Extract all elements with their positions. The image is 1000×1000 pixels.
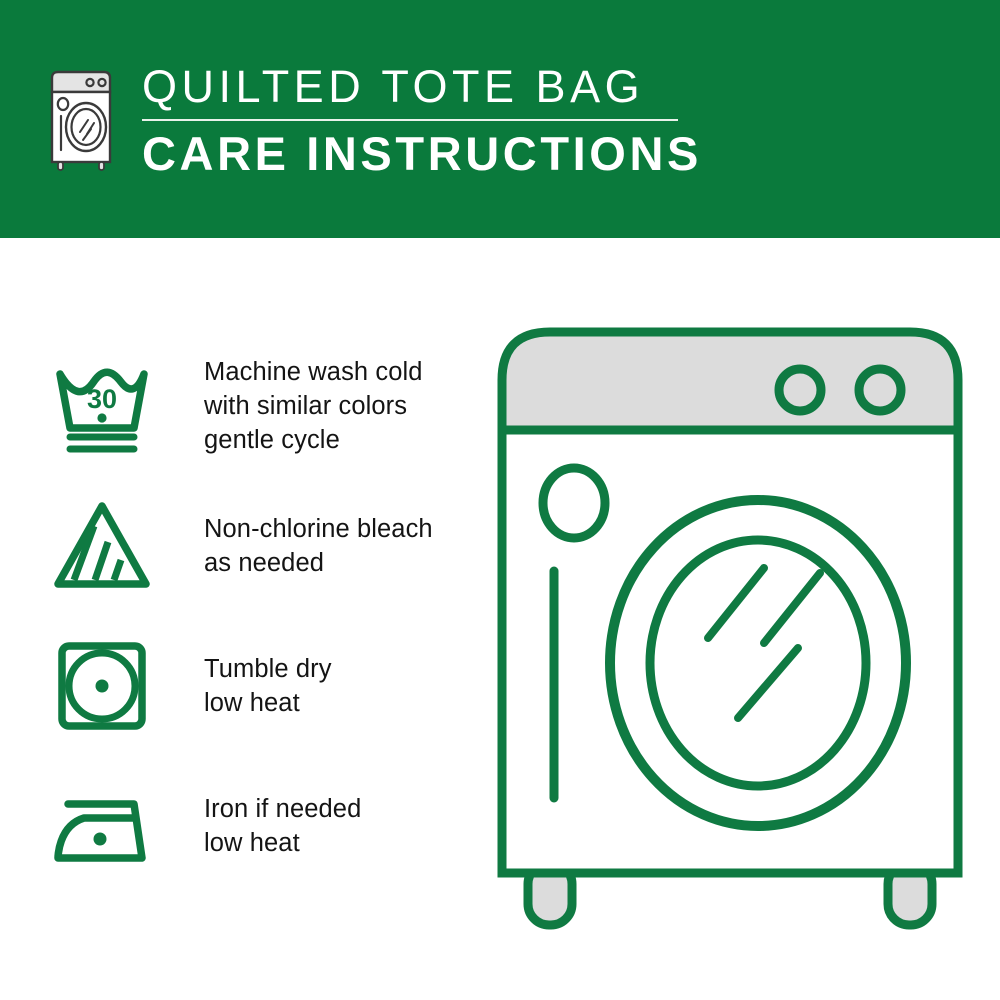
title-divider [142,119,678,121]
wash-temperature-value: 30 [87,384,117,414]
care-label-machine-wash: Machine wash cold with similar colors ge… [204,355,423,457]
care-row-machine-wash: 30 Machine wash cold with similar colors… [48,336,478,476]
page-title: QUILTED TOTE BAG [142,63,702,111]
care-label-bleach: Non-chlorine bleach as needed [204,512,433,580]
wash-tub-icon: 30 [48,354,156,458]
care-label-iron: Iron if needed low heat [204,792,361,860]
care-instructions-infographic: QUILTED TOTE BAG CARE INSTRUCTIONS 30 [0,0,1000,1000]
washing-machine-illustration [480,318,980,938]
bleach-triangle-icon [48,494,156,598]
header-title-group: QUILTED TOTE BAG CARE INSTRUCTIONS [142,63,702,180]
care-row-bleach: Non-chlorine bleach as needed [48,476,478,616]
tumble-dry-icon [48,634,156,738]
page-subtitle: CARE INSTRUCTIONS [142,129,702,179]
washing-machine-logo-icon [42,70,120,172]
iron-icon [48,774,156,878]
care-label-tumble-dry: Tumble dry low heat [204,652,332,720]
content-area: 30 Machine wash cold with similar colors… [0,238,1000,1000]
care-row-tumble-dry: Tumble dry low heat [48,616,478,756]
care-row-iron: Iron if needed low heat [48,756,478,896]
care-symbol-list: 30 Machine wash cold with similar colors… [48,336,478,896]
header-banner: QUILTED TOTE BAG CARE INSTRUCTIONS [0,0,1000,238]
